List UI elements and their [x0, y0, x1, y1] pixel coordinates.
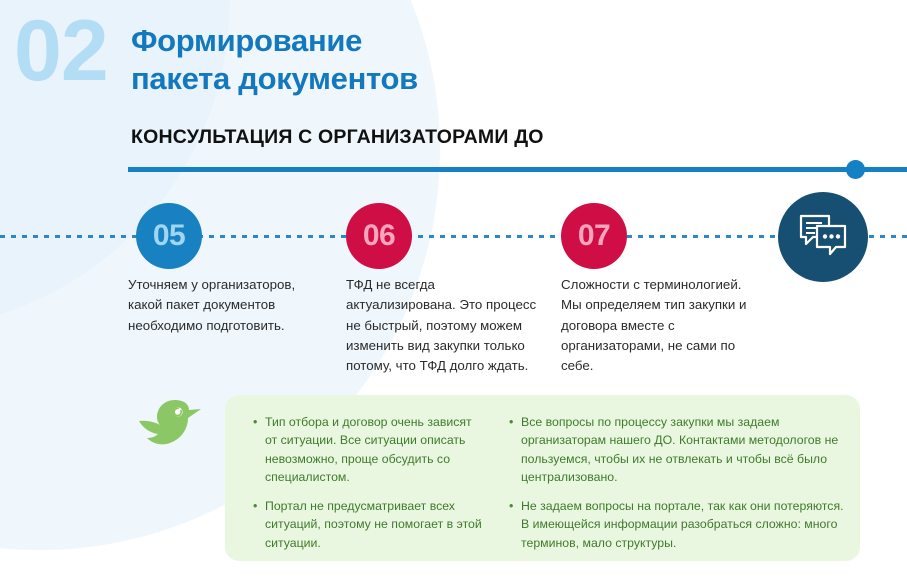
- list-item: • Не задаем вопросы на портале, так как …: [509, 497, 844, 552]
- step-circle-07: 07: [561, 203, 627, 269]
- step-circle-06: 06: [346, 203, 412, 269]
- list-item: • Все вопросы по процессу закупки мы зад…: [509, 413, 844, 487]
- chat-bubbles-icon: [798, 213, 848, 262]
- bullet-dot-icon: •: [509, 413, 521, 487]
- list-item: • Портал не предусматривает всех ситуаци…: [253, 497, 485, 552]
- bullet-dot-icon: •: [253, 497, 265, 552]
- page-title-line-2: пакета документов: [131, 60, 771, 98]
- page-subtitle: КОНСУЛЬТАЦИЯ С ОРГАНИЗАТОРАМИ ДО: [131, 126, 544, 149]
- list-item: • Тип отбора и договор очень зависят от …: [253, 413, 485, 487]
- bullet-text: Портал не предусматривает всех ситуаций,…: [265, 497, 485, 552]
- bullet-text: Не задаем вопросы на портале, так как он…: [521, 497, 844, 552]
- notes-right-column: • Все вопросы по процессу закупки мы зад…: [493, 413, 860, 561]
- bird-icon: [133, 398, 207, 460]
- bullet-text: Все вопросы по процессу закупки мы задае…: [521, 413, 844, 487]
- page-title-line-1: Формирование: [131, 23, 362, 58]
- header-divider-rule: [128, 167, 907, 172]
- infographic-slide: 02 Формирование пакета документов КОНСУЛ…: [0, 0, 907, 583]
- step-circle-05: 05: [136, 203, 202, 269]
- bullet-dot-icon: •: [253, 413, 265, 487]
- bullet-dot-icon: •: [509, 497, 521, 552]
- step-text-05: Уточняем у организаторов, какой пакет до…: [128, 275, 333, 336]
- header-divider-dot: [846, 160, 865, 179]
- chat-bubbles-circle: [778, 192, 868, 282]
- notes-columns: • Тип отбора и договор очень зависят от …: [225, 395, 860, 561]
- page-title: Формирование пакета документов: [131, 22, 771, 98]
- slide-step-number: 02: [14, 8, 108, 94]
- bullet-text: Тип отбора и договор очень зависят от си…: [265, 413, 485, 487]
- step-text-07: Сложности с терминологией. Мы определяем…: [561, 275, 756, 377]
- notes-left-column: • Тип отбора и договор очень зависят от …: [225, 413, 493, 561]
- step-text-06: ТФД не всегда актуализирована. Это проце…: [346, 275, 546, 377]
